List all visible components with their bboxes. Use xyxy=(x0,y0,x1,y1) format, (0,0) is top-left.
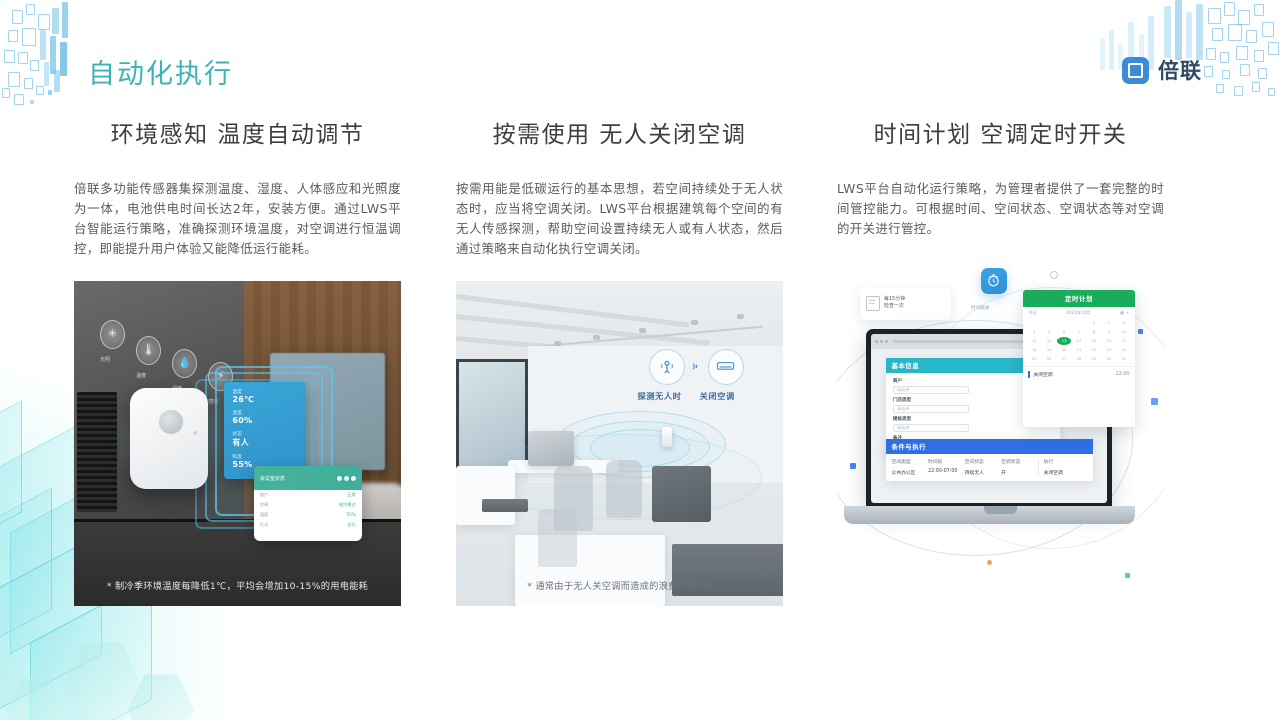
calendar-task-name: 关闭空调 xyxy=(1028,371,1052,378)
calendar-day[interactable]: 10 xyxy=(1117,328,1131,336)
chevron-shape xyxy=(0,400,22,572)
light-sensor-icon: ✳ xyxy=(100,320,125,349)
readout-value: 60% xyxy=(232,416,306,425)
table-column: 空调状态 开 xyxy=(1001,458,1038,476)
readout-value: 有人 xyxy=(232,437,306,448)
field-label: 楼栋类型 xyxy=(893,416,969,422)
calendar-day[interactable]: 15 xyxy=(1087,337,1101,345)
calendar-day[interactable]: 21 xyxy=(1072,346,1086,354)
calendar-day[interactable]: 17 xyxy=(1117,337,1131,345)
detect-no-person-label: 探测无人时 xyxy=(637,390,681,402)
clock-icon xyxy=(981,268,1007,294)
calendar-day[interactable]: 9 xyxy=(1102,328,1116,336)
status-key: 灯光 xyxy=(260,522,268,528)
table-header: 时间段 xyxy=(928,458,965,465)
form-field[interactable]: 商户 请选择⌄ xyxy=(893,378,969,394)
readout-value: 26℃ xyxy=(232,395,306,404)
field-placeholder: 请选择 xyxy=(897,406,910,412)
light-sensor-label: 光照 xyxy=(100,356,110,363)
calendar-day[interactable]: 26 xyxy=(1042,355,1056,363)
room-status-title: 会议室状态 xyxy=(260,475,285,482)
calendar-month-label: 2021年10月 xyxy=(1066,310,1090,316)
status-key: 空调 xyxy=(260,502,268,508)
calendar-day[interactable]: 7 xyxy=(1072,328,1086,336)
multi-function-sensor-device xyxy=(130,388,208,489)
calendar-day[interactable]: 22 xyxy=(1087,346,1101,354)
column-time-schedule: 时间计划 空调定时开关 LWS平台自动化运行策略，为管理者提供了一套完整的时间管… xyxy=(823,105,1178,586)
table-cell: 关闭空调 xyxy=(1044,469,1087,476)
signal-wave-icon xyxy=(690,361,701,372)
desk-monitor xyxy=(528,431,574,467)
column-body-text: 按需用能是低碳运行的基本思想，若空间持续处于无人状态时，应当将空调关闭。LWS平… xyxy=(442,179,797,259)
office-chair xyxy=(538,509,577,568)
table-cell: 公共办公区 xyxy=(892,469,929,476)
calendar-day[interactable]: 31 xyxy=(1117,355,1131,363)
calendar-day[interactable]: 1 xyxy=(1087,319,1101,327)
schedule-calendar-card: 定时计划 今日 2021年10月 ▦ ＋ 1 2 3 4 5 6 7 8 9 xyxy=(1023,290,1134,427)
table-header: 空间类型 xyxy=(892,458,929,465)
calendar-day[interactable]: 6 xyxy=(1057,328,1071,336)
calendar-title: 定时计划 xyxy=(1023,290,1134,307)
accent-dot xyxy=(1050,271,1058,279)
figure-schedule-ui: 每15分钟 检查一次 时间触发 基本信息 xyxy=(837,261,1164,586)
field-label: 门店类型 xyxy=(893,397,969,403)
table-cell: 22:00-07:00 xyxy=(928,469,965,474)
status-dots-icon xyxy=(337,476,356,481)
calendar-day[interactable]: 5 xyxy=(1042,328,1056,336)
field-input[interactable]: 请选择⌄ xyxy=(893,405,969,413)
temperature-sensor-label: 温度 xyxy=(136,372,146,379)
hexagon-shape xyxy=(6,676,66,720)
calendar-day[interactable]: 28 xyxy=(1072,355,1086,363)
check-interval-line2: 检查一次 xyxy=(884,303,905,310)
chevron-shape xyxy=(0,488,52,675)
status-value: 制冷模式 xyxy=(339,502,356,508)
calendar-blank xyxy=(1057,319,1071,327)
calendar-day[interactable]: 30 xyxy=(1102,355,1116,363)
table-cell: 持续无人 xyxy=(965,469,1002,476)
calendar-actions-icon[interactable]: ▦ ＋ xyxy=(1120,310,1129,316)
turn-off-ac-label: 关闭空调 xyxy=(700,390,735,402)
page-header: 自动化执行 倍联 xyxy=(0,0,1280,105)
column-body-text: LWS平台自动化运行策略，为管理者提供了一套完整的时间管控能力。可根据时间、空间… xyxy=(823,179,1178,239)
desk-monitor xyxy=(652,466,711,521)
status-value: 运行 xyxy=(347,522,355,528)
column-body-text: 倍联多功能传感器集探测温度、湿度、人体感应和光照度为一体，电池供电时间长达2年，… xyxy=(60,179,415,259)
occupancy-detect-icon xyxy=(649,349,685,385)
calendar-nav[interactable]: 今日 2021年10月 ▦ ＋ xyxy=(1023,307,1134,319)
calendar-day-selected[interactable]: 13 xyxy=(1057,337,1071,345)
calendar-blank xyxy=(1027,319,1041,327)
calendar-day[interactable]: 3 xyxy=(1117,319,1131,327)
calendar-day[interactable]: 24 xyxy=(1117,346,1131,354)
calendar-day[interactable]: 8 xyxy=(1087,328,1101,336)
calendar-blank xyxy=(1042,319,1056,327)
calendar-day[interactable]: 14 xyxy=(1072,337,1086,345)
calendar-day[interactable]: 27 xyxy=(1057,355,1071,363)
figure-caption: * 通常由于无人关空调而造成的浪费约为5% xyxy=(456,578,783,592)
column-title: 按需使用 无人关闭空调 xyxy=(442,115,797,149)
calendar-day[interactable]: 11 xyxy=(1027,337,1041,345)
accent-dot xyxy=(1125,573,1130,578)
accent-dot xyxy=(1138,329,1143,334)
calendar-day[interactable]: 23 xyxy=(1102,346,1116,354)
brand-logo: 倍联 xyxy=(1122,55,1202,85)
hexagon-shape xyxy=(62,640,142,720)
form-field[interactable]: 门店类型 请选择⌄ xyxy=(893,397,969,413)
table-header: 空调状态 xyxy=(1001,458,1038,465)
figure-caption: * 制冷季环境温度每降低1℃，平均会增加10-15%的用电能耗 xyxy=(74,578,401,592)
accent-dot xyxy=(850,463,856,469)
calendar-today-label[interactable]: 今日 xyxy=(1028,310,1036,316)
hexagon-shape xyxy=(128,672,194,720)
calendar-day[interactable]: 20 xyxy=(1057,346,1071,354)
field-placeholder: 请选择 xyxy=(897,425,910,431)
form-field[interactable]: 楼栋类型 请选择⌄ xyxy=(893,416,969,432)
status-key: 湿度 xyxy=(260,512,268,518)
table-column: 时间段 22:00-07:00 xyxy=(928,458,965,476)
room-status-card: 会议室状态 租户正常 空调制冷模式 湿度55% 灯光运行 xyxy=(254,466,362,541)
check-interval-tag: 每15分钟 检查一次 xyxy=(860,287,952,320)
table-column: 执行 关闭空调 xyxy=(1038,458,1087,476)
status-key: 租户 xyxy=(260,492,268,498)
calendar-day[interactable]: 4 xyxy=(1027,328,1041,336)
calendar-day[interactable]: 12 xyxy=(1042,337,1056,345)
field-label: 商户 xyxy=(893,378,969,384)
report-icon xyxy=(866,296,880,311)
status-value: 55% xyxy=(346,512,355,518)
column-title: 时间计划 空调定时开关 xyxy=(823,115,1178,149)
laptop-notch xyxy=(984,506,1017,513)
figure-office-photo: 探测无人时 关闭空调 * 通常由于无人关空调而造成的浪费约为5% xyxy=(456,281,783,606)
calendar-task-time: 22:00 xyxy=(1116,372,1130,377)
calendar-day[interactable]: 29 xyxy=(1087,355,1101,363)
table-cell: 开 xyxy=(1001,469,1038,476)
calendar-day[interactable]: 16 xyxy=(1102,337,1116,345)
page-title: 自动化执行 xyxy=(88,52,233,91)
field-input[interactable]: 请选择⌄ xyxy=(893,386,969,394)
calendar-day[interactable]: 25 xyxy=(1027,355,1041,363)
calendar-day[interactable]: 19 xyxy=(1042,346,1056,354)
calendar-day[interactable]: 18 xyxy=(1027,346,1041,354)
brand-mark-icon xyxy=(1122,57,1149,84)
table-column: 空间状态 持续无人 xyxy=(965,458,1002,476)
status-value: 正常 xyxy=(347,492,355,498)
office-chair xyxy=(606,460,642,519)
calendar-day[interactable]: 2 xyxy=(1102,319,1116,327)
condition-table: 空间类型 公共办公区 时间段 22:00-07:00 空间状态 持续无人 xyxy=(886,454,1093,481)
condition-execution-title: 条件与执行 xyxy=(886,439,1093,454)
air-conditioner-icon xyxy=(708,349,744,385)
figure-sensor-photo: ✳ 光照 🌡 温度 💧 湿度 ⚡ 人体感应 温度26℃ 湿度60% 状态有人 照… xyxy=(74,281,401,606)
calendar-grid[interactable]: 1 2 3 4 5 6 7 8 9 10 11 12 13 14 15 16 1 xyxy=(1023,319,1134,363)
column-environment-sensing: 环境感知 温度自动调节 倍联多功能传感器集探测温度、湿度、人体感应和光照度为一体… xyxy=(60,105,415,606)
condition-execution-panel: 条件与执行 空间类型 公共办公区 时间段 22:00-07:00 xyxy=(886,439,1093,481)
column-on-demand-usage: 按需使用 无人关闭空调 按需用能是低碳运行的基本思想，若空间持续处于无人状态时，… xyxy=(442,105,797,606)
sensor-readout-card: 温度26℃ 湿度60% 状态有人 照度55% xyxy=(224,382,306,480)
table-header: 空间状态 xyxy=(965,458,1002,465)
chevron-down-icon: ⌄ xyxy=(962,387,965,392)
chevron-down-icon: ⌄ xyxy=(962,406,965,411)
accent-dot xyxy=(987,560,992,565)
table-column: 空间类型 公共办公区 xyxy=(892,458,929,476)
calendar-task-row[interactable]: 关闭空调 22:00 xyxy=(1023,366,1134,382)
field-placeholder: 请选择 xyxy=(897,387,910,393)
clock-label: 时间触发 xyxy=(971,305,989,311)
accent-dot xyxy=(1151,398,1158,405)
column-title: 环境感知 温度自动调节 xyxy=(60,115,415,149)
table-header: 执行 xyxy=(1044,458,1087,465)
field-input[interactable]: 请选择⌄ xyxy=(893,424,969,432)
ceiling-sensor-device xyxy=(662,427,672,447)
brand-name: 倍联 xyxy=(1158,55,1202,85)
chevron-down-icon: ⌄ xyxy=(962,425,965,430)
calendar-blank xyxy=(1072,319,1086,327)
